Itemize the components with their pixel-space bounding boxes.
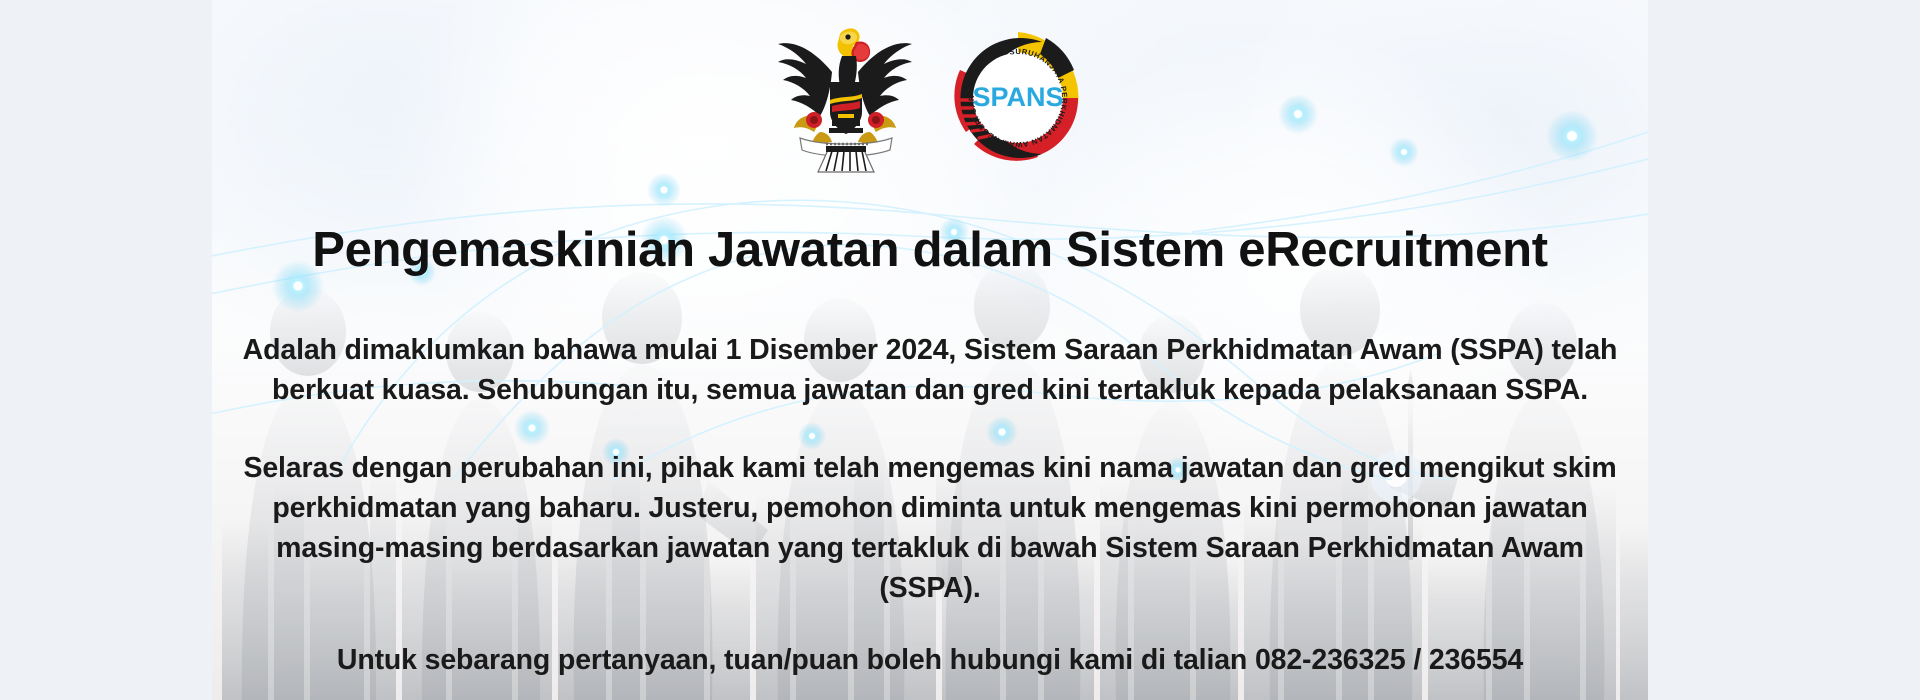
spans-logo-icon: SURUHANJAYA PERKHIDMATAN AWAM NEGERI SAR… bbox=[946, 26, 1090, 170]
spans-acronym: SPANS bbox=[972, 82, 1063, 112]
announcement-paragraph-2: Selaras dengan perubahan ini, pihak kami… bbox=[212, 448, 1648, 608]
banner-content: SURUHANJAYA PERKHIDMATAN AWAM NEGERI SAR… bbox=[212, 0, 1648, 700]
page-root: SURUHANJAYA PERKHIDMATAN AWAM NEGERI SAR… bbox=[0, 0, 1920, 700]
announcement-banner: SURUHANJAYA PERKHIDMATAN AWAM NEGERI SAR… bbox=[212, 0, 1648, 700]
contact-line: Untuk sebarang pertanyaan, tuan/puan bol… bbox=[212, 640, 1648, 680]
logo-row: SURUHANJAYA PERKHIDMATAN AWAM NEGERI SAR… bbox=[212, 20, 1648, 176]
left-gutter bbox=[0, 0, 212, 700]
sarawak-state-crest-icon bbox=[770, 20, 920, 176]
page-title: Pengemaskinian Jawatan dalam Sistem eRec… bbox=[212, 224, 1648, 277]
right-gutter bbox=[1648, 0, 1920, 700]
announcement-paragraph-1: Adalah dimaklumkan bahawa mulai 1 Disemb… bbox=[212, 330, 1648, 410]
